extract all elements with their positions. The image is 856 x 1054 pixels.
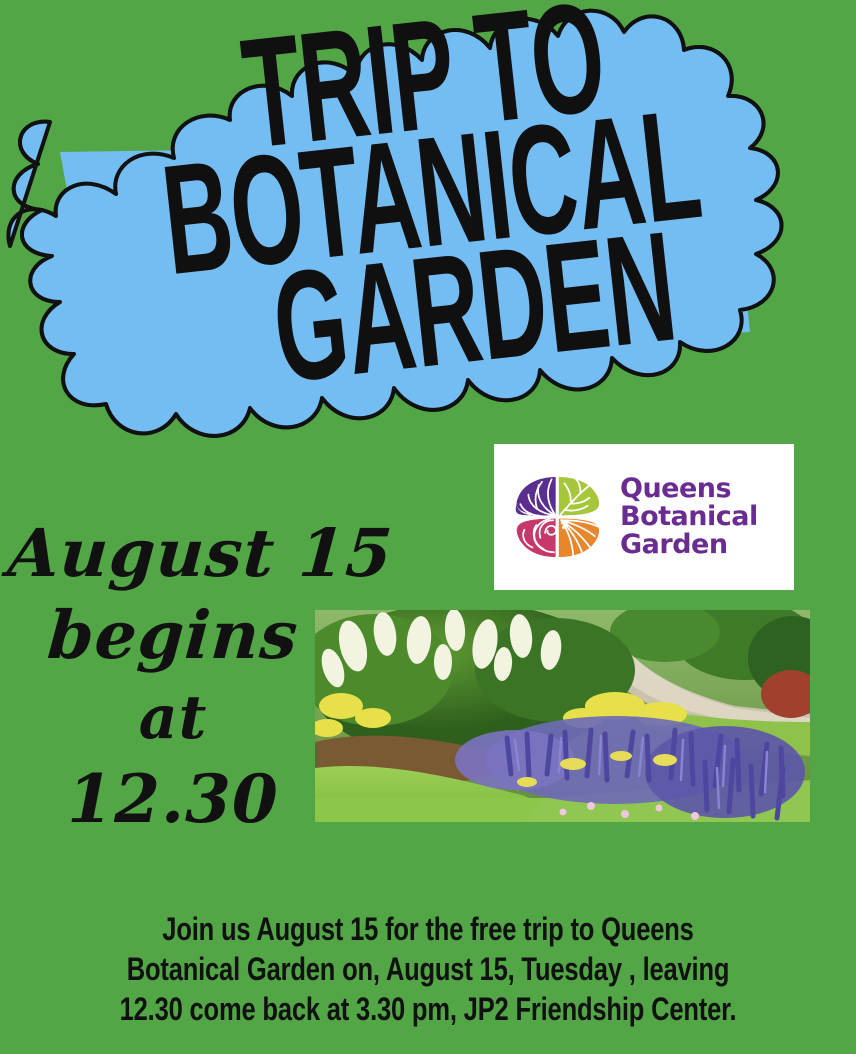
fan-flower-icon bbox=[559, 519, 599, 557]
logo-word-queens: Queens bbox=[620, 475, 758, 503]
schedule-date: August 15 bbox=[6, 520, 341, 587]
schedule-block: August 15 begins at 12.30 bbox=[8, 520, 338, 835]
schedule-begins: begins bbox=[6, 601, 341, 671]
footer-line-2: Botanical Garden on, August 15, Tuesday … bbox=[51, 954, 804, 986]
footer-line-3: 12.30 come back at 3.30 pm, JP2 Friendsh… bbox=[51, 994, 804, 1026]
poster-canvas: TRIP TO BOTANICAL GARDEN bbox=[0, 0, 856, 1054]
flower-quadrant-icon bbox=[510, 469, 606, 565]
leaf-icon bbox=[559, 477, 599, 515]
queens-botanical-garden-logo: Queens Botanical Garden bbox=[494, 444, 794, 590]
cloud-blob bbox=[0, 2, 820, 462]
footer-line-1: Join us August 15 for the free trip to Q… bbox=[51, 914, 804, 946]
lotus-icon bbox=[516, 477, 556, 516]
logo-wordmark: Queens Botanical Garden bbox=[620, 475, 758, 559]
rose-icon bbox=[517, 519, 556, 557]
schedule-time: 12.30 bbox=[8, 765, 338, 835]
logo-word-botanical: Botanical bbox=[620, 503, 758, 531]
schedule-at: at bbox=[8, 687, 338, 751]
garden-photo bbox=[315, 610, 810, 822]
footer-paragraph: Join us August 15 for the free trip to Q… bbox=[0, 916, 856, 1036]
cloud-blob-outline bbox=[8, 11, 781, 436]
logo-word-garden: Garden bbox=[620, 531, 758, 559]
